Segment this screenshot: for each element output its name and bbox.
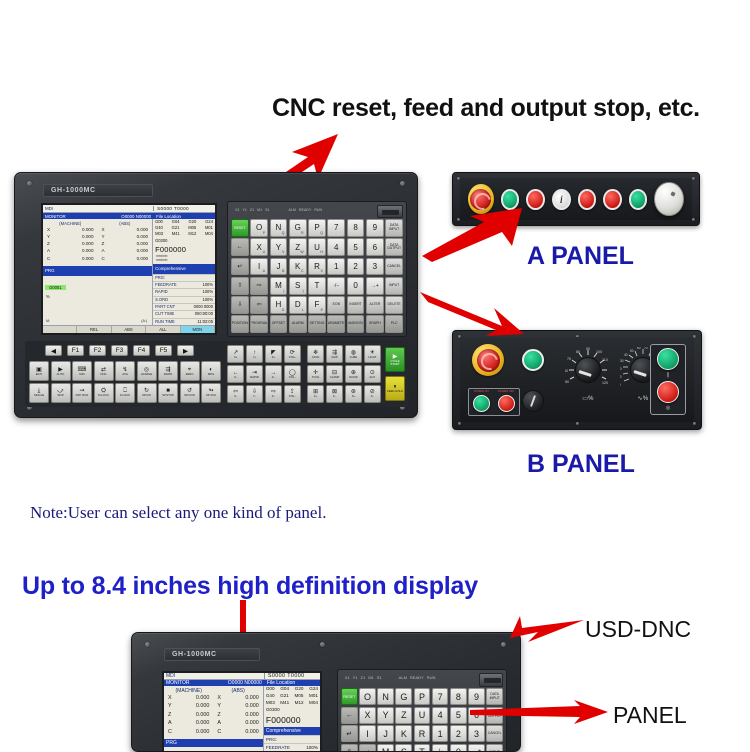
z-screw-tr — [501, 642, 506, 647]
key-3-zoomed[interactable]: 3 — [468, 725, 485, 742]
power-off-button[interactable] — [498, 395, 515, 412]
jog-z-plus[interactable]: ◤Z+ — [265, 345, 282, 363]
axis-name: Y — [102, 233, 112, 240]
power-labels: POWER ON POWER OFF — [469, 390, 519, 393]
axis-value: 0.000 — [112, 226, 148, 233]
lcd-feed-unit-2: mm/min — [153, 258, 215, 262]
key-x[interactable]: XU — [250, 238, 268, 256]
key-f[interactable]: FE — [308, 296, 326, 314]
axis-row: Y0.000 — [98, 233, 153, 240]
stat-key: FEEDRATE — [266, 744, 306, 751]
axis-value: 0.000 — [177, 702, 209, 710]
svg-text:60: 60 — [637, 347, 641, 350]
key-cursor-left[interactable]: ⇦ — [250, 296, 268, 314]
key-parameter[interactable]: PARAMETER — [327, 315, 345, 333]
key-o-zoomed[interactable]: O — [359, 688, 376, 705]
key-j[interactable]: JB — [270, 258, 288, 276]
b-screw-bc — [576, 422, 579, 425]
key-k-zoomed[interactable]: K — [395, 725, 412, 742]
key-1-zoomed[interactable]: 1 — [432, 725, 449, 742]
jog-x-neg[interactable]: ⇦X− — [227, 385, 244, 403]
key-data-output[interactable]: DATA OUTPUT — [385, 238, 403, 256]
feed-dial-knob[interactable] — [575, 357, 601, 383]
key-0-zoomed[interactable]: 0 — [450, 744, 467, 752]
axis-row: X0.000 — [43, 226, 98, 233]
a-screw-tr — [692, 177, 695, 180]
lcd-feed-value: F000000 — [153, 244, 215, 254]
jog-x-plus[interactable]: ↗X+ — [227, 345, 244, 363]
axis-name: Y — [168, 702, 177, 710]
led-x1: X1 — [345, 675, 350, 680]
axis-name: A — [217, 719, 226, 727]
axis-name: C — [47, 255, 57, 262]
softkey-f3[interactable]: F3 — [111, 345, 128, 356]
a-button-red-3[interactable] — [603, 189, 622, 210]
jog-z-neg[interactable]: ⇨Z− — [265, 385, 282, 403]
key-alter[interactable]: ALTER — [366, 296, 384, 314]
stat-row: PRG: — [264, 735, 320, 743]
key-decimal-minus[interactable]: ·/− — [327, 277, 345, 295]
power-on-label: POWER ON — [474, 390, 489, 393]
jog-4th-plus[interactable]: ⟳4TH+ — [284, 345, 301, 363]
mk-jog[interactable]: ↯JOG — [115, 361, 135, 381]
key-7[interactable]: 7 — [327, 219, 345, 237]
stat-row: CUT TIME000:00:00 — [153, 310, 215, 317]
key-backspace[interactable]: ← — [231, 238, 249, 256]
key-t[interactable]: T — [308, 277, 326, 295]
model-label-zoomed: GH-1000MC — [172, 651, 217, 658]
mk-mpg[interactable]: ◐MPG — [201, 361, 221, 381]
a-button-red-2[interactable] — [578, 189, 597, 210]
mk-zero[interactable]: ⌖ZERO — [180, 361, 200, 381]
mk-handle[interactable]: ◎HANDLE — [137, 361, 157, 381]
key-i[interactable]: IA — [250, 258, 268, 276]
key-7-zoomed[interactable]: 7 — [432, 688, 449, 705]
stat-key: CUT TIME — [155, 311, 195, 317]
gcode: M04 — [309, 700, 318, 707]
svg-text:70: 70 — [644, 347, 648, 350]
key-cursor-right-zoomed[interactable]: ⇨ — [359, 744, 376, 752]
softkey-f4[interactable]: F4 — [133, 345, 150, 356]
lcd-prg-band: PRG — [43, 266, 152, 276]
b-screw-br — [693, 422, 696, 425]
a-button-info[interactable]: i — [552, 189, 571, 210]
key-4-zoomed[interactable]: 4 — [432, 707, 449, 724]
gcode: M03 — [266, 700, 275, 707]
axis-row: C0.000 — [164, 728, 213, 736]
axis-name: X — [102, 226, 112, 233]
mk-spindle-stop[interactable]: ■SP.STOP — [158, 383, 178, 403]
axis-value: 0.000 — [227, 711, 259, 719]
axis-name: C — [168, 728, 177, 736]
gcode: G40 — [266, 693, 275, 700]
key-u-zoomed[interactable]: U — [414, 707, 431, 724]
lcd-prg-footer-left: M: — [46, 319, 50, 323]
key-k[interactable]: KC — [289, 258, 307, 276]
jog-y-neg[interactable]: ⇩Y− — [246, 385, 263, 403]
keypad-panel: X1 Y1 Z1 M1 S1 ALM READY RUN RESET OP NQ… — [227, 201, 407, 337]
axis-value: 0.000 — [227, 719, 259, 727]
usb-dnc-port-zoomed[interactable] — [479, 673, 503, 687]
jog-z-minus[interactable]: →Z− — [265, 365, 282, 383]
key-9[interactable]: 9 — [366, 219, 384, 237]
mk-spindle-ccw[interactable]: ↺SP.CCW — [180, 383, 200, 403]
led-m1: M1 — [368, 675, 374, 680]
power-off-label: POWER OFF — [498, 390, 514, 393]
aux-coolant[interactable]: ❄COOL — [307, 345, 324, 363]
key-setting[interactable]: SETTING — [308, 315, 326, 333]
lcd-soft-key-abs[interactable]: ABS — [112, 326, 146, 333]
mk-mdi[interactable]: ⌨MDI — [72, 361, 92, 381]
key-offset[interactable]: OFFSET — [270, 315, 288, 333]
svg-text:100: 100 — [596, 350, 602, 354]
key-1[interactable]: 1 — [327, 258, 345, 276]
lcd-title-left: MONITOR — [43, 214, 66, 219]
axis-row: Z0.000 — [98, 240, 153, 247]
gcode: M41 — [280, 700, 289, 707]
softkey-f2[interactable]: F2 — [89, 345, 106, 356]
lcd-soft-key-all[interactable]: ALL — [146, 326, 180, 333]
key-cursor-up[interactable]: ⇧ — [231, 277, 249, 295]
mk-single[interactable]: ⤓SINGLE — [29, 383, 49, 403]
stat-key: S.ORD — [155, 297, 202, 303]
z-screw-tl — [145, 642, 150, 647]
gcode: G20 — [295, 686, 304, 693]
lcd-soft-key-mon[interactable]: MON — [181, 326, 215, 333]
jog-x-minus[interactable]: ←X− — [227, 365, 244, 383]
stat-row: FEEDRATE100% — [153, 281, 215, 288]
stat-key: PRG: — [266, 736, 318, 743]
aux-light[interactable]: ☀LIGHT — [364, 345, 381, 363]
axis-value: 0.000 — [177, 711, 209, 719]
axis-row: C0.000 — [43, 255, 98, 262]
key-reset-zoomed[interactable]: RESET — [341, 688, 358, 705]
key-n[interactable]: NQ — [270, 219, 288, 237]
key-input-zoomed[interactable]: INPUT — [486, 744, 503, 752]
key-m[interactable]: M( — [270, 277, 288, 295]
key-p-zoomed[interactable]: P — [414, 688, 431, 705]
stat-key: RUN TIME — [155, 319, 197, 325]
key-p[interactable]: PQ — [308, 219, 326, 237]
key-plc[interactable]: PLC — [385, 315, 403, 333]
key-x-zoomed[interactable]: X — [359, 707, 376, 724]
jog-4th-neg[interactable]: ⇪4TH− — [284, 385, 301, 403]
led-run: RUN — [427, 675, 436, 680]
keypad-led-legend-zoomed: X1 Y1 Z1 M1 S1 ALM READY RUN — [345, 672, 500, 683]
key-program[interactable]: PROGRAM — [250, 315, 268, 333]
model-badge-zoomed: GH-1000MC — [164, 648, 260, 661]
jog-4th-minus[interactable]: ◯4TH− — [284, 365, 301, 383]
key-8[interactable]: 8 — [347, 219, 365, 237]
lcd-spindle-tool-zoomed: S0000 T0000 — [264, 673, 320, 679]
led-ready: READY — [299, 208, 311, 212]
key-5[interactable]: 5 — [347, 238, 365, 256]
mk-edit[interactable]: ▣EDIT — [29, 361, 49, 381]
gcode: G00 — [266, 686, 275, 693]
svg-text:50: 50 — [565, 380, 569, 384]
axis-value: 0.000 — [57, 226, 93, 233]
key-d[interactable]: DL — [289, 296, 307, 314]
b-key-switch[interactable] — [522, 390, 544, 412]
key-8-zoomed[interactable]: 8 — [450, 688, 467, 705]
lcd-abs-title-zoomed: (ABS) — [213, 686, 262, 694]
key-g[interactable]: GR — [289, 219, 307, 237]
lcd-comprehensive-label: Comprehensive — [153, 266, 186, 271]
mk-dry-run[interactable]: ⇝DRY RUN — [72, 383, 92, 403]
svg-text:70: 70 — [567, 357, 571, 361]
mk-skip[interactable]: ⤻SKIP — [51, 383, 71, 403]
aux-lube[interactable]: ◍LUBE — [345, 345, 362, 363]
jog-rapid[interactable]: ⇥RAPID — [246, 365, 263, 383]
axis-value: 0.000 — [177, 728, 209, 736]
arrow-to-panel — [470, 700, 610, 724]
key-eob[interactable]: EOB — [327, 296, 345, 314]
led-y1: Y1 — [243, 208, 247, 212]
key-3[interactable]: 3 — [366, 258, 384, 276]
stat-value: 100% — [203, 282, 213, 288]
key-u[interactable]: UH — [308, 238, 326, 256]
key-backspace-zoomed[interactable]: ← — [341, 707, 358, 724]
key-insert[interactable]: INSERT — [347, 296, 365, 314]
heading-cnc-reset: CNC reset, feed and output stop, etc. — [272, 94, 700, 123]
stat-value: 100% — [203, 297, 213, 303]
svg-text:0: 0 — [620, 383, 621, 387]
screw-top-right — [400, 181, 405, 186]
axis-value: 0.000 — [177, 694, 209, 702]
led-s1: S1 — [265, 208, 269, 212]
lcd-coordinate-pane-zoomed: (MACHINE) X0.000 Y0.000 Z0.000 A0.000 C0… — [164, 686, 264, 752]
gcode: M05 — [294, 693, 303, 700]
softkey-f1[interactable]: F1 — [67, 345, 84, 356]
key-alarm[interactable]: ALARM — [289, 315, 307, 333]
usb-dnc-port[interactable] — [377, 205, 403, 218]
led-z1: Z1 — [250, 208, 254, 212]
svg-text:20: 20 — [620, 367, 622, 371]
aux-feed-minus[interactable]: ⊠F− — [326, 385, 343, 403]
lcd-prg-number: O0001 — [45, 285, 66, 290]
cycle-key-group: ▶CYCLE START ⏸FEED HOLD — [385, 347, 405, 401]
key-delete[interactable]: DELETE — [385, 296, 403, 314]
key-0[interactable]: 0 — [347, 277, 365, 295]
axis-value: 0.000 — [57, 255, 93, 262]
feed-override-dial[interactable]: 50 60 70 80 90 100 110 120 ▭% — [565, 347, 611, 393]
soft-function-key-row: ◀ F1 F2 F3 F4 F5 ▶ — [45, 345, 194, 356]
mk-spindle-cw[interactable]: ↻SP.CW — [137, 383, 157, 403]
gcode-row: G40G21M05M01 — [264, 693, 320, 700]
key-y-zoomed[interactable]: Y — [377, 707, 394, 724]
softkey-f5[interactable]: F5 — [155, 345, 172, 356]
key-cursor-down[interactable]: ⇩ — [231, 296, 249, 314]
led-x1: X1 — [235, 208, 239, 212]
machine-mode-key-grid: ▣EDIT ▶AUTO ⌨MDI ⇄DNC ↯JOG ◎HANDLE ⇶RAPI… — [29, 361, 221, 403]
cnc-controller-unit: GH-1000MC MDI S0000 T0000 MONITOR O0000 … — [14, 172, 418, 418]
lcd-screen-zoomed: MDI S0000 T0000 MONITOR O0000 N00000 Fil… — [162, 671, 322, 752]
power-on-button[interactable] — [473, 395, 490, 412]
axis-name: Z — [168, 711, 177, 719]
gcode: G0300 — [155, 238, 167, 244]
key-enter[interactable]: ↵ — [231, 258, 249, 276]
axis-name: Z — [217, 711, 226, 719]
axis-jog-key-grid: ↗X+ ↑Y+ ◤Z+ ⟳4TH+ ←X− ⇥RAPID →Z− ◯4TH− ⇦… — [227, 345, 301, 403]
keypad-grid: RESET OP NQ GR PQ 7 8 9 DATA INPUT ← XU … — [231, 219, 403, 333]
label-a-panel: A PANEL — [527, 242, 634, 271]
key-plus-zoomed[interactable]: →+ — [468, 744, 485, 752]
key-cancel-zoomed[interactable]: CANCEL — [486, 725, 503, 742]
key-decimal-minus-zoomed[interactable]: ·/− — [432, 744, 449, 752]
key-input[interactable]: INPUT — [385, 277, 403, 295]
screw-top-left — [27, 181, 32, 186]
key-5-zoomed[interactable]: 5 — [450, 707, 467, 724]
key-g-zoomed[interactable]: G — [395, 688, 412, 705]
key-t-zoomed[interactable]: T — [414, 744, 431, 752]
key-r-zoomed[interactable]: R — [414, 725, 431, 742]
model-label: GH-1000MC — [51, 187, 96, 194]
led-z1: Z1 — [361, 675, 366, 680]
lcd-prg-band-zoomed: PRG — [164, 739, 263, 747]
axis-name: Z — [102, 240, 112, 247]
axis-value: 0.000 — [57, 233, 93, 240]
mk-machine-lock[interactable]: ⛭M.LOCK — [94, 383, 114, 403]
mk-rapid[interactable]: ⇶RAPID — [158, 361, 178, 381]
label-usb-dnc: USD-DNC — [585, 616, 691, 643]
axis-row: X0.000 — [213, 694, 262, 702]
gcode: M12 — [295, 700, 304, 707]
mk-auto[interactable]: ▶AUTO — [51, 361, 71, 381]
lcd-machine-title-zoomed: (MACHINE) — [164, 686, 213, 694]
a-button-green-2[interactable] — [629, 189, 648, 210]
key-m-zoomed[interactable]: M — [377, 744, 394, 752]
key-n-zoomed[interactable]: N — [377, 688, 394, 705]
key-position[interactable]: POSITION — [231, 315, 249, 333]
key-6[interactable]: 6 — [366, 238, 384, 256]
key-cancel[interactable]: CANCEL — [385, 258, 403, 276]
key-s-zoomed[interactable]: S — [395, 744, 412, 752]
axis-name: Y — [47, 233, 57, 240]
lcd-prg-footer-right: (A:) — [141, 319, 147, 323]
aux-clamp[interactable]: ⊟CLAMP — [326, 365, 343, 383]
key-2-zoomed[interactable]: 2 — [450, 725, 467, 742]
emergency-stop-icon — [477, 349, 500, 372]
svg-text:60: 60 — [565, 369, 568, 373]
axis-value: 0.000 — [177, 719, 209, 727]
axis-value: 0.000 — [57, 247, 93, 254]
led-alarm: ALM — [399, 675, 407, 680]
key-z-zoomed[interactable]: Z — [395, 707, 412, 724]
axis-row: Z0.000 — [43, 240, 98, 247]
model-badge: GH-1000MC — [43, 184, 153, 197]
softkey-next[interactable]: ▶ — [177, 345, 194, 356]
axis-value: 0.000 — [112, 255, 148, 262]
aux-spindle-minus[interactable]: ⊘S− — [364, 385, 381, 403]
cycle-stop-icon: ◎ — [666, 405, 670, 411]
key-4[interactable]: 4 — [327, 238, 345, 256]
feed-hold-key[interactable]: ⏸FEED HOLD — [385, 376, 405, 401]
key-y[interactable]: YV — [270, 238, 288, 256]
softkey-prev[interactable]: ◀ — [45, 345, 62, 356]
axis-row: C0.000 — [98, 255, 153, 262]
note-text: Note:User can select any one kind of pan… — [30, 503, 326, 523]
axis-row: X0.000 — [98, 226, 153, 233]
mk-spindle-jog[interactable]: ↬SP.JOG — [201, 383, 221, 403]
svg-text:50: 50 — [630, 349, 634, 353]
gcode-row: M03M41M12M04 — [264, 700, 320, 707]
mk-z-lock[interactable]: ⎕Z.LOCK — [115, 383, 135, 403]
lcd-soft-key-row[interactable]: REL ABS ALL MON — [43, 325, 215, 333]
b-button-green[interactable] — [522, 349, 544, 371]
gcode: G0300 — [266, 707, 280, 714]
led-m1: M1 — [257, 208, 262, 212]
aux-spindle-plus[interactable]: ⊛S+ — [345, 385, 362, 403]
key-s[interactable]: S) — [289, 277, 307, 295]
key-z[interactable]: ZW — [289, 238, 307, 256]
key-graph[interactable]: GRAPH — [366, 315, 384, 333]
lcd-title-right: File Location — [153, 214, 215, 219]
stat-key: FEEDRATE — [155, 282, 202, 288]
aux-chip[interactable]: ⇶CHIP — [326, 345, 343, 363]
key-enter-zoomed[interactable]: ↵ — [341, 725, 358, 742]
cycle-start-icon: ❙ — [666, 372, 670, 378]
info-icon: i — [560, 192, 563, 207]
axis-row: Z0.000 — [213, 711, 262, 719]
aux-tool[interactable]: ✛TOOL — [307, 365, 324, 383]
jog-y-plus[interactable]: ↑Y+ — [246, 345, 263, 363]
key-cursor-right[interactable]: ⇨ — [250, 277, 268, 295]
led-alarm: ALM — [289, 208, 296, 212]
key-plus[interactable]: →+ — [366, 277, 384, 295]
axis-row: A0.000 — [98, 247, 153, 254]
key-reset[interactable]: RESET — [231, 219, 249, 237]
lcd-mode-text: MDI — [43, 206, 65, 211]
lcd-soft-key-rel[interactable]: REL — [77, 326, 111, 333]
aux-misc[interactable]: ⊙AUX — [364, 365, 381, 383]
axis-row: A0.000 — [43, 247, 98, 254]
gcode: M12 — [188, 231, 196, 237]
key-r[interactable]: RV — [308, 258, 326, 276]
aux-door[interactable]: ⊕DOOR — [345, 365, 362, 383]
stat-row: RAPID100% — [153, 288, 215, 295]
lcd-status-pane: G00G04G20G24 G40G21M05M01 M03M41M12M04 G… — [153, 219, 215, 325]
key-j-zoomed[interactable]: J — [377, 725, 394, 742]
lcd-prg-label-zoomed: PRG — [164, 740, 177, 746]
lcd-machine-title: (MACHINE) — [43, 219, 98, 226]
key-i-zoomed[interactable]: I — [359, 725, 376, 742]
key-diagnosis[interactable]: DIAGNOSIS — [347, 315, 365, 333]
key-cursor-up-zoomed[interactable]: ⇧ — [341, 744, 358, 752]
b-cycle-start-button[interactable] — [657, 348, 679, 370]
gcode-row: G0300 — [264, 707, 320, 714]
axis-name: Z — [47, 240, 57, 247]
key-data-input[interactable]: DATA INPUT — [385, 219, 403, 237]
lcd-soft-key[interactable] — [43, 326, 77, 333]
axis-name: X — [168, 694, 177, 702]
b-emergency-stop-button[interactable] — [472, 344, 504, 376]
lcd-status-pane-zoomed: G00G04G20G24 G40G21M05M01 M03M41M12M04 G… — [264, 686, 320, 752]
cycle-start-key[interactable]: ▶CYCLE START — [385, 347, 405, 372]
b-cycle-stop-button[interactable] — [657, 381, 679, 403]
axis-row: C0.000 — [213, 728, 262, 736]
key-h[interactable]: HD — [270, 296, 288, 314]
key-2[interactable]: 2 — [347, 258, 365, 276]
key-o[interactable]: OP — [250, 219, 268, 237]
svg-text:40: 40 — [624, 353, 628, 357]
keypad-led-legend: X1 Y1 Z1 M1 S1 ALM READY RUN — [235, 204, 399, 215]
a-handwheel-knob[interactable] — [654, 182, 684, 216]
axis-value: 0.000 — [112, 240, 148, 247]
lcd-title-center: O0000 N00000 — [121, 214, 153, 219]
aux-feed-plus[interactable]: ⊞F+ — [307, 385, 324, 403]
stat-value: 100% — [306, 744, 318, 751]
mk-dnc[interactable]: ⇄DNC — [94, 361, 114, 381]
